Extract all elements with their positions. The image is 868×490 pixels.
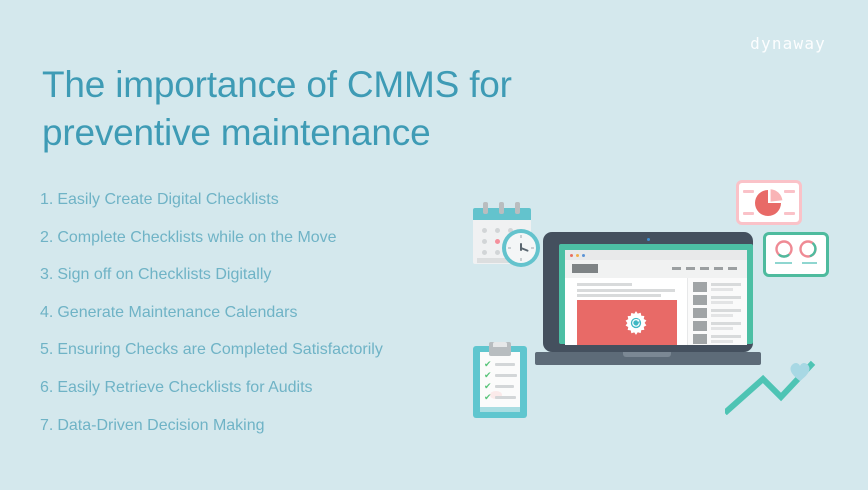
calendar-day-dot — [495, 228, 500, 233]
content-text-line — [577, 283, 632, 286]
nav-item[interactable] — [728, 267, 737, 270]
sidebar-text-line — [711, 322, 741, 325]
trend-line-icon — [725, 355, 835, 415]
slide-canvas: dynaway The importance of CMMS for preve… — [0, 0, 868, 490]
list-item: 1.Easily Create Digital Checklists — [40, 191, 460, 208]
check-icon: ✔ — [484, 372, 491, 379]
list-item: 4.Generate Maintenance Calendars — [40, 304, 460, 321]
list-item-number: 3. — [40, 266, 53, 283]
dynaway-logo: dynaway — [750, 34, 826, 53]
check-icon: ✔ — [484, 361, 491, 368]
sidebar-text-line — [711, 327, 733, 330]
donut-ring-right — [798, 239, 818, 259]
site-logo-block — [572, 264, 598, 273]
benefits-list: 1.Easily Create Digital Checklists 2.Com… — [40, 191, 460, 454]
calendar-day-dot — [495, 250, 500, 255]
sidebar-text-line — [711, 309, 741, 312]
sidebar-list-item[interactable] — [693, 321, 745, 331]
laptop-lid — [543, 232, 753, 352]
calendar-icon — [473, 202, 531, 264]
list-item: 7.Data-Driven Decision Making — [40, 417, 460, 434]
calendar-ring — [515, 202, 520, 214]
heart-icon — [788, 360, 812, 382]
check-icon: ✔ — [484, 394, 491, 401]
list-item: 6.Easily Retrieve Checklists for Audits — [40, 379, 460, 396]
sidebar-thumbnail — [693, 295, 707, 305]
calendar-highlight-dot — [495, 239, 500, 244]
window-minimize-dot[interactable] — [576, 254, 579, 257]
list-item-label: Complete Checklists while on the Move — [57, 229, 336, 246]
clock-tick — [531, 247, 534, 249]
laptop-screen — [559, 244, 753, 344]
clipboard-line — [495, 374, 517, 377]
donut-caption-line — [802, 262, 817, 264]
card-dash — [784, 190, 795, 193]
nav-item[interactable] — [686, 267, 695, 270]
nav-item[interactable] — [714, 267, 723, 270]
sidebar-thumbnail — [693, 308, 707, 318]
sidebar-thumbnail — [693, 334, 707, 344]
pie-chart-card — [736, 180, 802, 225]
laptop-trackpad — [623, 352, 671, 357]
list-item-label: Generate Maintenance Calendars — [57, 304, 297, 321]
browser-window — [565, 250, 747, 345]
list-item-label: Sign off on Checklists Digitally — [57, 266, 271, 283]
list-item-label: Data-Driven Decision Making — [57, 417, 264, 434]
clock-face — [506, 233, 536, 263]
list-item: 2.Complete Checklists while on the Move — [40, 229, 460, 246]
nav-item[interactable] — [672, 267, 681, 270]
calendar-day-dot — [482, 228, 487, 233]
sidebar-list-item[interactable] — [693, 282, 745, 292]
gear-icon — [623, 310, 649, 336]
list-item-number: 1. — [40, 191, 53, 208]
list-item-number: 2. — [40, 229, 53, 246]
calendar-ring — [499, 202, 504, 214]
laptop-icon — [535, 232, 761, 372]
sidebar-list-item[interactable] — [693, 334, 745, 344]
list-item-label: Ensuring Checks are Completed Satisfacto… — [57, 341, 382, 358]
illustration: ✔ ✔ ✔ ✔ — [455, 160, 855, 450]
card-dash — [784, 212, 795, 215]
list-item-number: 4. — [40, 304, 53, 321]
sidebar-thumbnail — [693, 321, 707, 331]
sidebar-text-line — [711, 301, 733, 304]
clipboard-bottom-bar — [480, 407, 520, 412]
calendar-day-dot — [482, 239, 487, 244]
clock-minute-hand — [521, 247, 529, 252]
browser-titlebar — [565, 250, 747, 260]
clipboard-line — [495, 363, 515, 366]
donut-stats-card — [763, 232, 829, 277]
list-item-number: 5. — [40, 341, 53, 358]
donut-ring-left — [774, 239, 794, 259]
content-text-line — [577, 294, 661, 297]
clipboard-line — [495, 385, 514, 388]
check-icon: ✔ — [484, 383, 491, 390]
sidebar-text-line — [711, 314, 733, 317]
pie-chart-graphic — [753, 187, 785, 219]
calendar-day-dot — [482, 250, 487, 255]
clipboard-checklist-icon: ✔ ✔ ✔ ✔ — [473, 342, 527, 418]
list-item-number: 6. — [40, 379, 53, 396]
hero-banner — [577, 300, 677, 345]
list-item-label: Easily Retrieve Checklists for Audits — [57, 379, 312, 396]
sidebar-thumbnail — [693, 282, 707, 292]
clipboard-clip-top — [493, 342, 507, 347]
list-item-label: Easily Create Digital Checklists — [57, 191, 278, 208]
sidebar-list-item[interactable] — [693, 308, 745, 318]
sidebar-text-line — [711, 288, 733, 291]
window-maximize-dot[interactable] — [582, 254, 585, 257]
clipboard-line — [495, 396, 516, 399]
sidebar-list-item[interactable] — [693, 295, 745, 305]
list-item: 3.Sign off on Checklists Digitally — [40, 266, 460, 283]
clock-tick — [508, 247, 511, 249]
window-close-dot[interactable] — [570, 254, 573, 257]
sidebar-text-line — [711, 296, 741, 299]
browser-sidebar — [687, 278, 747, 345]
clock-tick — [520, 258, 522, 261]
webcam-icon — [647, 238, 650, 241]
list-item: 5.Ensuring Checks are Completed Satisfac… — [40, 341, 460, 358]
nav-item[interactable] — [700, 267, 709, 270]
browser-content — [565, 278, 747, 345]
calendar-ring — [483, 202, 488, 214]
page-title: The importance of CMMS for preventive ma… — [42, 61, 562, 157]
sidebar-text-line — [711, 335, 741, 338]
clock-tick — [520, 235, 522, 238]
list-item-number: 7. — [40, 417, 53, 434]
sidebar-text-line — [711, 283, 741, 286]
donut-caption-line — [775, 262, 792, 264]
content-text-line — [577, 289, 675, 292]
sidebar-text-line — [711, 340, 733, 343]
